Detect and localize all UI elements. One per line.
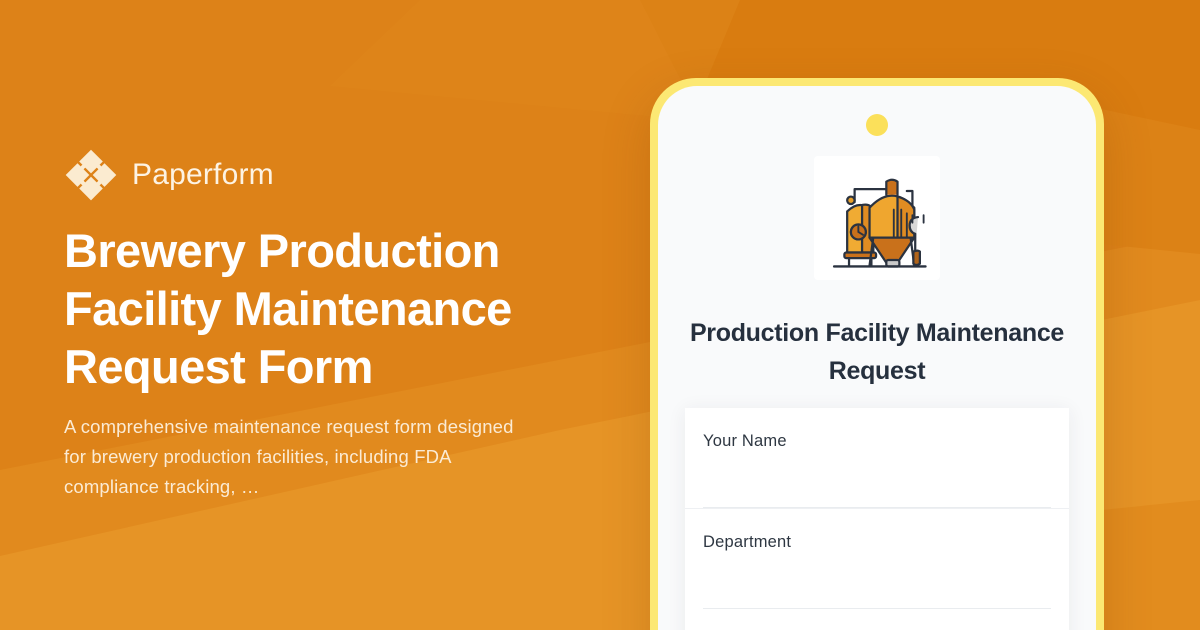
- form-title: Production Facility Maintenance Request: [684, 314, 1070, 390]
- hero-content: Paperform Brewery Production Facility Ma…: [64, 0, 624, 630]
- field-label-your-name: Your Name: [703, 430, 1051, 452]
- promo-banner: Paperform Brewery Production Facility Ma…: [0, 0, 1200, 630]
- form-fields-card: Your Name Department: [685, 408, 1069, 630]
- department-input[interactable]: [703, 565, 1051, 609]
- brand-lockup: Paperform: [64, 148, 274, 202]
- paperform-starburst-logo-icon: [64, 148, 118, 202]
- field-label-department: Department: [703, 531, 1051, 553]
- page-title: Brewery Production Facility Maintenance …: [64, 222, 594, 396]
- camera-dot-icon: [866, 114, 888, 136]
- form-field-department: Department: [685, 509, 1069, 609]
- phone-screen: Production Facility Maintenance Request …: [658, 86, 1096, 630]
- brewery-tanks-wrench-illustration-icon: [821, 163, 933, 273]
- brand-name: Paperform: [132, 160, 274, 190]
- form-header-image: [814, 156, 940, 280]
- phone-mockup: Production Facility Maintenance Request …: [650, 78, 1104, 630]
- page-description: A comprehensive maintenance request form…: [64, 412, 534, 502]
- form-field-your-name: Your Name: [685, 408, 1069, 509]
- your-name-input[interactable]: [703, 464, 1051, 508]
